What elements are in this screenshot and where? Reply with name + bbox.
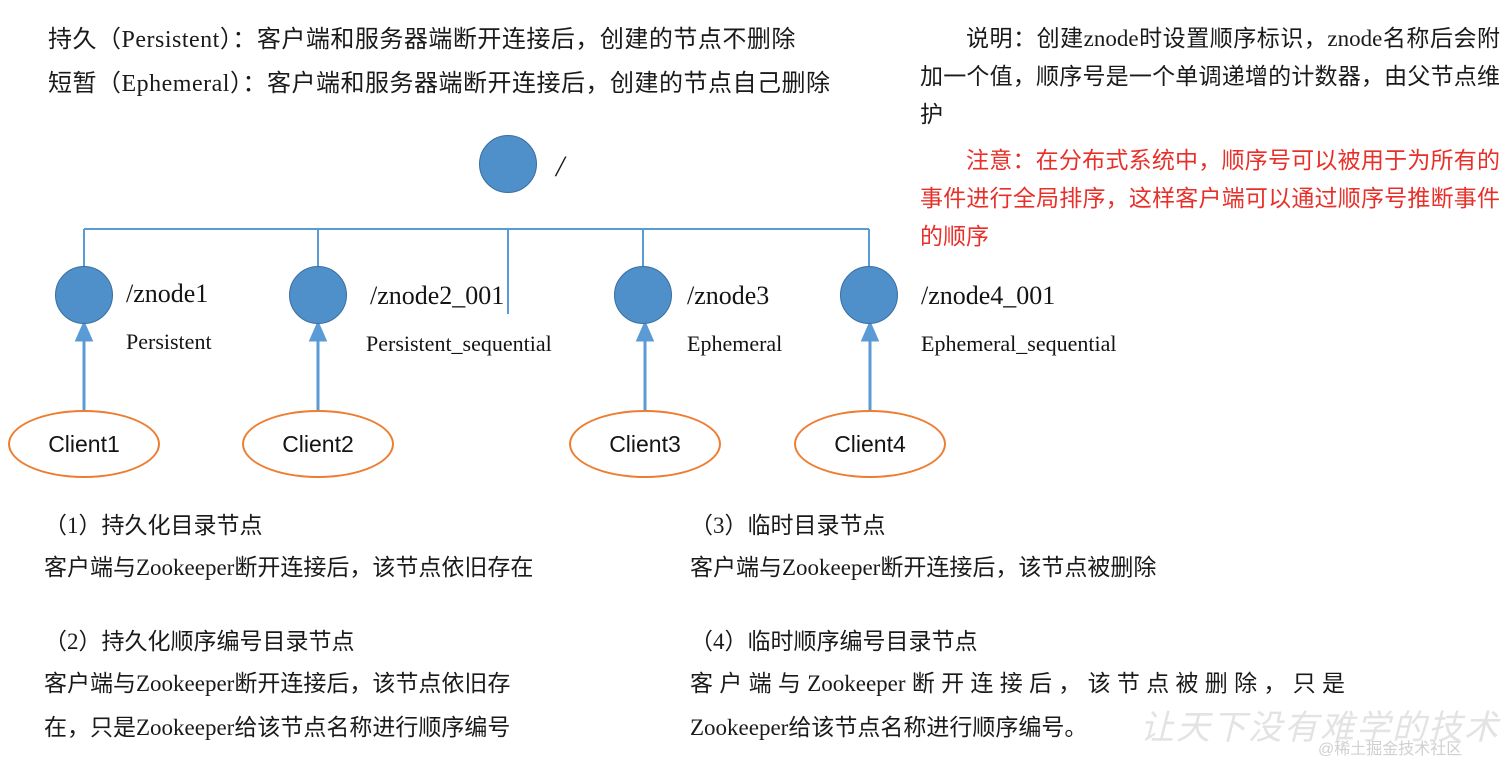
note-body-2: 客户端与Zookeeper断开连接后，该节点依旧存 在，只是Zookeeper给… — [44, 662, 744, 750]
sequential-explanation: 说明：创建znode时设置顺序标识，znode名称后会附加一个值，顺序号是一个单… — [920, 20, 1500, 256]
note-line-1-1: 客户端与Zookeeper断开连接后，该节点依旧存在 — [44, 546, 744, 590]
persistent-definition-line: 持久（Persistent）：客户端和服务器端断开连接后，创建的节点不删除 — [48, 18, 908, 62]
client-ellipse-3[interactable]: Client3 — [569, 410, 721, 478]
note-line-2-2: 在，只是Zookeeper给该节点名称进行顺序编号 — [44, 706, 744, 750]
diagram-page: 持久（Persistent）：客户端和服务器端断开连接后，创建的节点不删除 短暂… — [0, 0, 1512, 767]
znode-circle-4[interactable] — [840, 266, 898, 324]
znode-circle-3[interactable] — [614, 266, 672, 324]
note-title-2: （2）持久化顺序编号目录节点 — [44, 622, 744, 662]
znode-name-2: /znode2_001 — [370, 281, 504, 311]
znode-type-2: Persistent_sequential — [366, 331, 552, 357]
ephemeral-definition-line: 短暂（Ephemeral）：客户端和服务器端断开连接后，创建的节点自己删除 — [48, 62, 908, 106]
watermark-community-tag: @稀土掘金技术社区 — [1318, 735, 1462, 759]
client-ellipse-4[interactable]: Client4 — [794, 410, 946, 478]
client-ellipse-1[interactable]: Client1 — [8, 410, 160, 478]
znode-name-1: /znode1 — [126, 279, 208, 309]
note-line-3-1: 客户端与Zookeeper断开连接后，该节点被删除 — [690, 546, 1390, 590]
root-znode[interactable] — [479, 135, 537, 193]
note-title-4: （4）临时顺序编号目录节点 — [690, 622, 1390, 662]
note-title-3: （3）临时目录节点 — [690, 506, 1390, 546]
client-label-2: Client2 — [282, 431, 354, 458]
znode-type-3: Ephemeral — [687, 331, 782, 357]
note-body-1: 客户端与Zookeeper断开连接后，该节点依旧存在 — [44, 546, 744, 590]
note-body-3: 客户端与Zookeeper断开连接后，该节点被删除 — [690, 546, 1390, 590]
client-label-4: Client4 — [834, 431, 906, 458]
client-label-1: Client1 — [48, 431, 120, 458]
sequential-description-text: 说明：创建znode时设置顺序标识，znode名称后会附加一个值，顺序号是一个单… — [920, 20, 1500, 134]
znode-name-4: /znode4_001 — [921, 281, 1055, 311]
note-title-1: （1）持久化目录节点 — [44, 506, 744, 546]
znode-type-4: Ephemeral_sequential — [921, 331, 1116, 357]
znode-name-3: /znode3 — [687, 281, 769, 311]
znode-circle-2[interactable] — [289, 266, 347, 324]
znode-type-1: Persistent — [126, 329, 212, 355]
note-block-2: （2）持久化顺序编号目录节点 客户端与Zookeeper断开连接后，该节点依旧存… — [44, 622, 744, 750]
root-znode-label: / — [556, 150, 564, 184]
note-block-3: （3）临时目录节点 客户端与Zookeeper断开连接后，该节点被删除 — [690, 506, 1390, 590]
client-label-3: Client3 — [609, 431, 681, 458]
client-ellipse-2[interactable]: Client2 — [242, 410, 394, 478]
znode-circle-1[interactable] — [55, 266, 113, 324]
persistence-definitions: 持久（Persistent）：客户端和服务器端断开连接后，创建的节点不删除 短暂… — [48, 18, 908, 106]
note-block-1: （1）持久化目录节点 客户端与Zookeeper断开连接后，该节点依旧存在 — [44, 506, 744, 590]
sequential-warning-text: 注意：在分布式系统中，顺序号可以被用于为所有的事件进行全局排序，这样客户端可以通… — [920, 142, 1500, 256]
znode-tree-diagram: / /znode1 Persistent /znode2_001 Persist… — [0, 120, 1000, 500]
note-line-2-1: 客户端与Zookeeper断开连接后，该节点依旧存 — [44, 662, 744, 706]
